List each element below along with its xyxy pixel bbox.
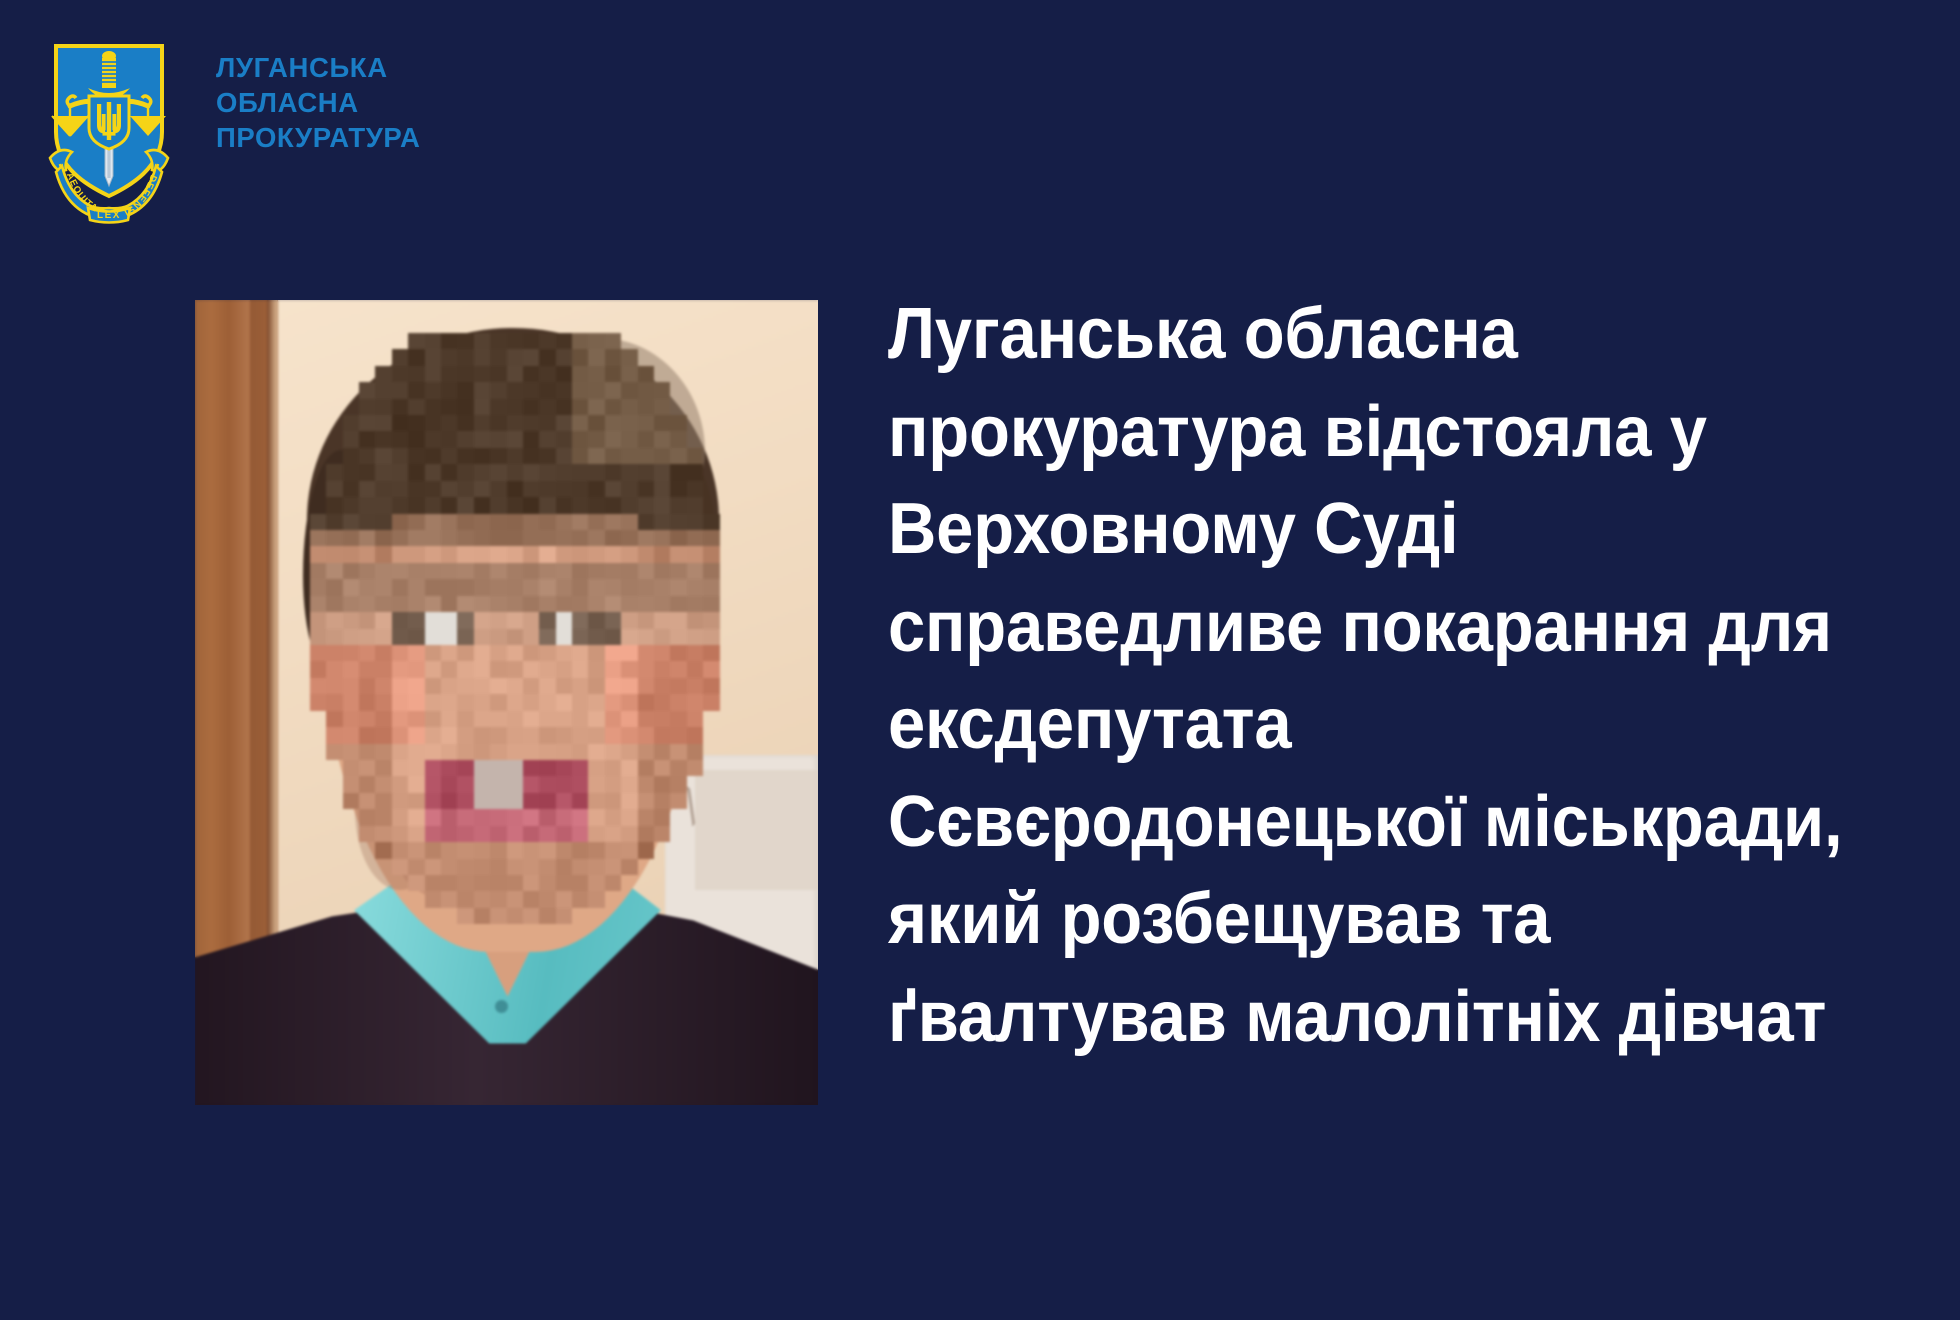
logo-line-3: ПРОКУРАТУРА <box>216 120 476 155</box>
logo-line-2: ОБЛАСНА <box>216 85 476 120</box>
svg-text:LEX: LEX <box>97 210 121 221</box>
photo-collar-button <box>495 1000 508 1013</box>
photo-teeth <box>487 780 529 798</box>
photo-paper-shadow <box>695 770 818 890</box>
headline-line-1: Луганська обласна <box>888 286 1837 384</box>
photo-chin-shadow <box>400 820 600 910</box>
logo-line-1: ЛУГАНСЬКА <box>216 50 476 85</box>
banner-root: AEQUITAS DEFENSIO LEX ЛУГАНСЬКА ОБЛАСНА … <box>0 0 1960 1320</box>
photo-lower-lip <box>460 800 565 822</box>
photo-nose <box>495 670 553 760</box>
headline-line-6: Сєвєродонецької міськради, <box>888 774 1837 872</box>
headline-line-2: прокуратура відстояла у <box>888 384 1837 482</box>
headline-line-5: ексдепутата <box>888 676 1837 774</box>
subject-photo <box>195 300 818 1105</box>
organization-logo: AEQUITAS DEFENSIO LEX ЛУГАНСЬКА ОБЛАСНА … <box>44 36 474 236</box>
headline-line-4: справедливе покарання для <box>888 579 1837 677</box>
logo-wordmark: ЛУГАНСЬКА ОБЛАСНА ПРОКУРАТУРА <box>216 50 476 155</box>
coat-of-arms-icon: AEQUITAS DEFENSIO LEX <box>44 36 204 226</box>
photo-eye-left-white <box>435 628 460 647</box>
page-title: Луганська обласна прокуратура відстояла … <box>888 286 1837 1066</box>
headline-line-7: який розбещував та <box>888 871 1837 969</box>
headline-line-3: Верховному Суді <box>888 481 1837 579</box>
photo-eye-right-white <box>565 626 592 645</box>
headline-line-8: ґвалтував малолітніх дівчат <box>888 969 1837 1067</box>
